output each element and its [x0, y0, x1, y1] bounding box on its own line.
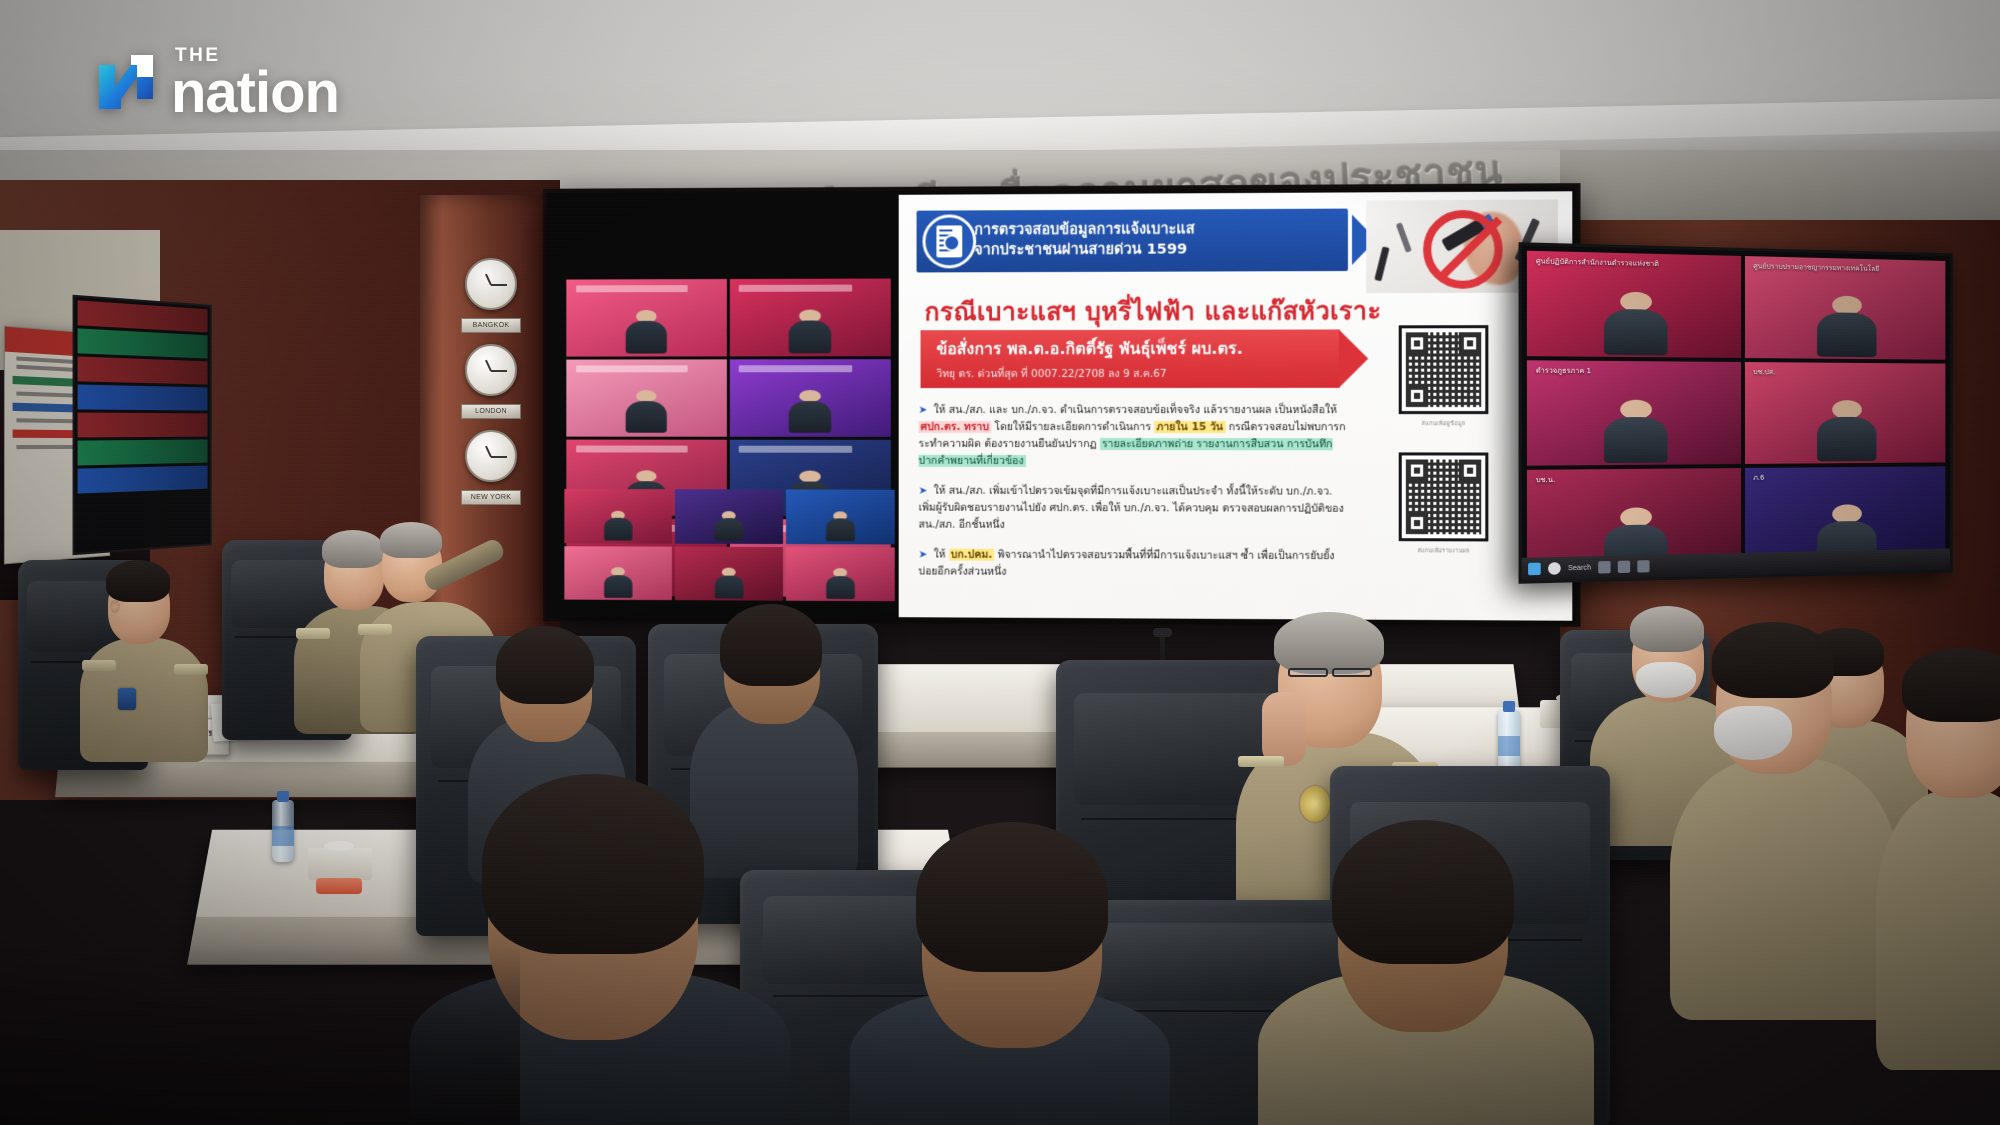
- display-row: [78, 300, 208, 332]
- eyeglasses-icon: [1288, 668, 1328, 677]
- vc-tile: [786, 489, 895, 544]
- taskbar-app-icon[interactable]: [1637, 560, 1649, 572]
- person-hair: [482, 774, 704, 954]
- display-row: [78, 413, 208, 438]
- presentation-slide: การตรวจสอบข้อมูลการแจ้งเบาะแส จากประชาชน…: [899, 191, 1573, 620]
- document-clipboard-icon: [923, 214, 977, 268]
- bullet-highlight-blue: บก.ปคม.: [949, 549, 994, 561]
- wall-clock-label: NEW YORK: [461, 490, 521, 505]
- search-icon[interactable]: [1548, 562, 1561, 575]
- vc-tile-caption-bar: [576, 285, 688, 292]
- bullet-highlight-red: ศปก.ตร. ทราบ: [919, 421, 991, 433]
- slide-header-text: การตรวจสอบข้อมูลการแจ้งเบาะแส จากประชาชน…: [974, 221, 1194, 261]
- windows-start-icon[interactable]: [1528, 563, 1541, 576]
- person-hair: [916, 822, 1108, 972]
- person-foreground-right: [860, 820, 1160, 1125]
- taskbar-search-label[interactable]: Search: [1568, 564, 1591, 572]
- person-hair: [1712, 622, 1834, 698]
- order-line1: ข้อสั่งการ พล.ต.อ.กิตติ์รัฐ พันธุ์เพ็ชร์…: [936, 336, 1339, 362]
- qr-code-caption: สแกนเพื่อรายงานผล: [1391, 547, 1497, 555]
- tissue-box-icon: [308, 848, 372, 880]
- slide-header-line2: จากประชาชนผ่านสายด่วน 1599: [974, 240, 1194, 260]
- vc-tile-person-body: [625, 321, 667, 353]
- taskbar-app-icon[interactable]: [1618, 561, 1630, 574]
- person-officer-left: [82, 548, 212, 758]
- person-body: [80, 638, 208, 762]
- order-banner: ข้อสั่งการ พล.ต.อ.กิตติ์รัฐ พันธุ์เพ็ชร์…: [921, 329, 1340, 388]
- conference-room-photo: เป็นตำรวจมืออาชีพ เพื่อความผาสุกของประชา…: [0, 0, 2000, 1125]
- person-hair: [380, 522, 442, 558]
- person-hair: [106, 560, 170, 602]
- display-row: [78, 356, 208, 384]
- person-hair: [496, 626, 594, 704]
- side-monitor-tile-caption: บช.น.: [1536, 474, 1704, 485]
- bullet-text: โดยให้มีรายละเอียดการดำเนินการ: [991, 421, 1154, 433]
- slide-bullet-list: ➤ ให้ สน./สภ. และ บก./ภ.จว. ดำเนินการตรว…: [919, 402, 1350, 595]
- taskbar-app-icon[interactable]: [1598, 561, 1610, 574]
- bullet-text: เป็นหนังสือให้: [1275, 404, 1337, 416]
- vc-tile-person-body: [715, 518, 743, 541]
- water-bottle-icon: [272, 800, 294, 862]
- person-officer-foreground-right: [1670, 618, 1900, 1018]
- vc-tile-person-body: [789, 320, 831, 353]
- vc-tile-person-body: [625, 401, 667, 433]
- side-monitor-tile-caption: บช.ปส.: [1753, 368, 1910, 378]
- tile-person-body: [1604, 417, 1668, 463]
- vc-tile: [566, 359, 726, 436]
- vc-tile: [786, 547, 895, 602]
- person-body: [1670, 758, 1898, 1020]
- side-monitor-tile: ศูนย์ปฏิบัติการสำนักงานตำรวจแห่งชาติ: [1527, 251, 1741, 358]
- vc-tile: [729, 359, 890, 436]
- slide-header-banner: การตรวจสอบข้อมูลการแจ้งเบาะแส จากประชาชน…: [917, 209, 1348, 273]
- vc-tile: [675, 489, 783, 543]
- vc-tile-person-body: [604, 518, 632, 541]
- vape-device: [1374, 246, 1389, 281]
- secondary-display-left: [73, 295, 212, 555]
- person-hair: [1274, 612, 1384, 674]
- bullet-text: ให้ สน./สภ. เพิ่มเข้าไปตรวจเข้มจุดที่มีก…: [934, 485, 1223, 498]
- eyeglasses-icon: [1332, 668, 1372, 677]
- side-monitor-tile-caption: ศูนย์ปฏิบัติการสำนักงานตำรวจแห่งชาติ: [1536, 257, 1704, 270]
- snack-item: [316, 878, 362, 894]
- bullet-text: ให้ สน./สภ. และ บก./ภ.จว. ดำเนินการตรวจส…: [934, 404, 1272, 416]
- side-monitor-tile-caption: ภ.6: [1753, 473, 1910, 483]
- face-mask-icon: [1714, 706, 1792, 760]
- wall-clock-label: BANGKOK: [461, 318, 521, 333]
- epaulette-insignia: [296, 628, 330, 639]
- vc-tile-caption-bar: [739, 445, 852, 452]
- uniform-badge: [118, 688, 136, 710]
- vc-tile-person-body: [789, 401, 831, 433]
- person-body: [1876, 790, 2000, 1070]
- vc-tile-caption-bar: [576, 445, 688, 452]
- nation-watermark-logo: THE nation: [95, 46, 339, 118]
- person-ear: [110, 600, 120, 613]
- person-hair: [1332, 820, 1514, 964]
- wall-clock-icon: [465, 344, 517, 396]
- tile-person-body: [1817, 417, 1877, 461]
- vc-tile: [564, 489, 672, 543]
- person-hair: [720, 604, 822, 686]
- no-vaping-icon: [1423, 210, 1503, 289]
- slide-bullet: ➤ ให้ สน./สภ. เพิ่มเข้าไปตรวจเข้มจุดที่ม…: [919, 483, 1350, 535]
- qr-code-icon: [1399, 452, 1489, 541]
- wall-clock-label: LONDON: [461, 404, 521, 419]
- vc-tile: [566, 279, 726, 356]
- slide-bullet: ➤ ให้ บก.ปคม. พิจารณานำไปตรวจสอบรวมพื้นท…: [919, 547, 1350, 583]
- order-line2: วิทยุ ตร. ด่วนที่สุด ที่ 0007.22/2708 ลง…: [936, 364, 1339, 381]
- side-monitor-tile-caption: ตำรวจภูธรภาค 1: [1536, 367, 1704, 377]
- side-monitor-display: ศูนย์ปฏิบัติการสำนักงานตำรวจแห่งชาติ ศูน…: [1519, 242, 1953, 584]
- person-hand-to-face: [1262, 692, 1306, 766]
- slide-header-line1: การตรวจสอบข้อมูลการแจ้งเบาะแส: [974, 221, 1194, 242]
- bullet-arrow-icon: ➤: [919, 485, 928, 497]
- display-row: [78, 328, 208, 358]
- vc-tile-person-body: [604, 575, 632, 598]
- bullet-arrow-icon: ➤: [919, 404, 928, 416]
- epaulette-insignia: [174, 664, 208, 675]
- nation-n-logo-icon: [95, 51, 157, 113]
- display-row: [78, 465, 208, 493]
- bullet-arrow-icon: ➤: [919, 549, 928, 561]
- slide-bullet: ➤ ให้ สน./สภ. และ บก./ภ.จว. ดำเนินการตรว…: [919, 402, 1350, 471]
- qr-code-icon: [1399, 325, 1489, 414]
- person-hair: [1902, 648, 2000, 722]
- uniform-badge: [1300, 786, 1330, 822]
- vc-tile: [675, 546, 783, 601]
- display-row: [78, 439, 208, 465]
- bullet-text: พิจารณานำไปตรวจสอบรวมพื้นที่ที่มีการแจ้ง…: [994, 549, 1254, 562]
- tile-person-body: [1817, 312, 1877, 357]
- wall-clock-icon: [465, 430, 517, 482]
- person-officer-edge-right: [1876, 640, 2000, 1060]
- epaulette-insignia: [358, 624, 392, 635]
- vc-tile-person-body: [826, 576, 854, 599]
- epaulette-insignia: [1238, 756, 1284, 767]
- vc-tile-person-body: [715, 575, 743, 598]
- bullet-highlight-yellow: ภายใน 15 วัน: [1154, 421, 1225, 433]
- brand-nation: nation: [171, 67, 339, 118]
- wall-clock-icon: [465, 258, 517, 310]
- side-monitor-grid: ศูนย์ปฏิบัติการสำนักงานตำรวจแห่งชาติ ศูน…: [1527, 251, 1945, 576]
- side-monitor-tile: บช.ปส.: [1745, 362, 1945, 464]
- slide-title: กรณีเบาะแสฯ บุหรี่ไฟฟ้า และแก๊สหัวเราะ: [925, 291, 1382, 332]
- floor-cables: [0, 945, 520, 1125]
- right-wall-upper: [1560, 150, 2000, 220]
- vc-tile: [564, 546, 672, 600]
- main-projection-screen: การตรวจสอบข้อมูลการแจ้งเบาะแส จากประชาชน…: [547, 187, 1577, 623]
- vc-tile-caption-bar: [576, 365, 688, 372]
- video-wall-bottom-grid: [564, 489, 894, 601]
- side-monitor-tile: ศูนย์ปราบปรามอาชญากรรมทางเทคโนโลยี: [1745, 256, 1945, 360]
- vc-tile: [729, 279, 890, 357]
- display-row: [78, 384, 208, 410]
- side-monitor-tile-caption: ศูนย์ปราบปรามอาชญากรรมทางเทคโนโลยี: [1753, 262, 1910, 274]
- nation-wordmark: THE nation: [171, 46, 339, 118]
- vape-device: [1396, 222, 1412, 252]
- side-monitor-tile: ตำรวจภูธรภาค 1: [1527, 360, 1741, 465]
- person-foreground-officer: [1258, 820, 1588, 1125]
- bullet-text: ให้: [934, 549, 949, 561]
- vc-tile-person-body: [826, 519, 854, 542]
- water-bottle-icon: [1498, 710, 1520, 772]
- qr-code-caption: สแกนเพื่อดูข้อมูล: [1391, 420, 1497, 428]
- vc-tile-caption-bar: [739, 365, 852, 372]
- tile-person-body: [1604, 309, 1668, 355]
- epaulette-insignia: [82, 660, 116, 671]
- vc-tile-caption-bar: [739, 285, 852, 292]
